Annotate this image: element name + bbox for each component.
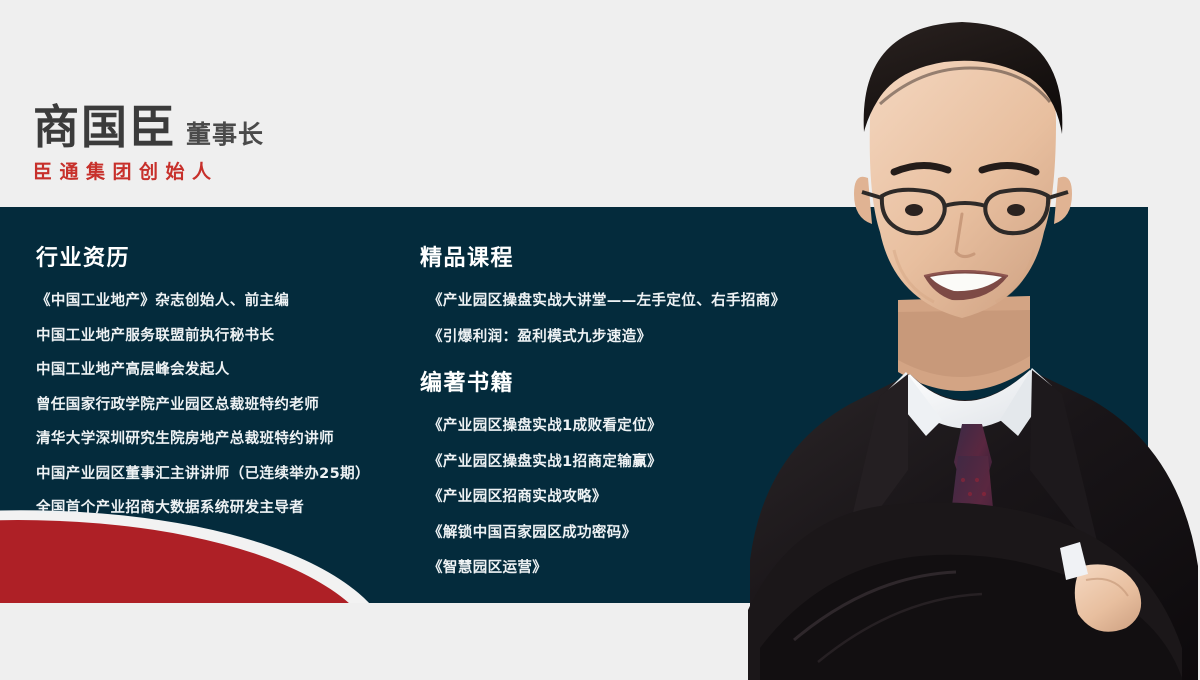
list-item: 《产业园区操盘实战1招商定输赢》 [428, 455, 850, 470]
list-item: 《产业园区招商实战攻略》 [428, 490, 850, 505]
banner-stage: 商国臣 董事长 臣通集团创始人 行业资历 《中国工业地产》杂志创始人、前主编 中… [0, 0, 1200, 680]
list-item: 全国首个产业招商大数据系统研发主导者 [36, 501, 416, 516]
section-title-books: 编著书籍 [420, 365, 850, 397]
column-courses-books: 精品课程 《产业园区操盘实战大讲堂——左手定位、右手招商》 《引爆利润：盈利模式… [420, 207, 850, 597]
list-item: 《解锁中国百家园区成功密码》 [428, 526, 850, 541]
list-item: 中国工业地产服务联盟前执行秘书长 [36, 329, 416, 344]
list-item: 中国工业地产高层峰会发起人 [36, 363, 416, 378]
section-title-experience: 行业资历 [36, 240, 416, 272]
column-experience: 行业资历 《中国工业地产》杂志创始人、前主编 中国工业地产服务联盟前执行秘书长 … [36, 207, 416, 536]
list-item: 《引爆利润：盈利模式九步速造》 [428, 330, 850, 345]
speaker-subtitle: 臣通集团创始人 [33, 163, 513, 182]
list-item: 中国产业园区董事汇主讲讲师（已连续举办25期） [36, 467, 416, 482]
speaker-name: 商国臣 [33, 104, 177, 150]
list-item: 《智慧园区运营》 [428, 561, 850, 576]
panel-columns: 行业资历 《中国工业地产》杂志创始人、前主编 中国工业地产服务联盟前执行秘书长 … [0, 207, 1148, 603]
experience-list: 《中国工业地产》杂志创始人、前主编 中国工业地产服务联盟前执行秘书长 中国工业地… [36, 294, 416, 516]
list-item: 《中国工业地产》杂志创始人、前主编 [36, 294, 416, 309]
speaker-role: 董事长 [186, 122, 264, 150]
courses-list: 《产业园区操盘实战大讲堂——左手定位、右手招商》 《引爆利润：盈利模式九步速造》 [420, 294, 850, 344]
books-list: 《产业园区操盘实战1成败看定位》 《产业园区操盘实战1招商定输赢》 《产业园区招… [420, 419, 850, 576]
list-item: 清华大学深圳研究生院房地产总裁班特约讲师 [36, 432, 416, 447]
list-item: 《产业园区操盘实战1成败看定位》 [428, 419, 850, 434]
list-item: 曾任国家行政学院产业园区总裁班特约老师 [36, 398, 416, 413]
section-title-courses: 精品课程 [420, 240, 850, 272]
speaker-header: 商国臣 董事长 臣通集团创始人 [33, 104, 513, 182]
name-row: 商国臣 董事长 [33, 104, 513, 150]
list-item: 《产业园区操盘实战大讲堂——左手定位、右手招商》 [428, 294, 850, 309]
